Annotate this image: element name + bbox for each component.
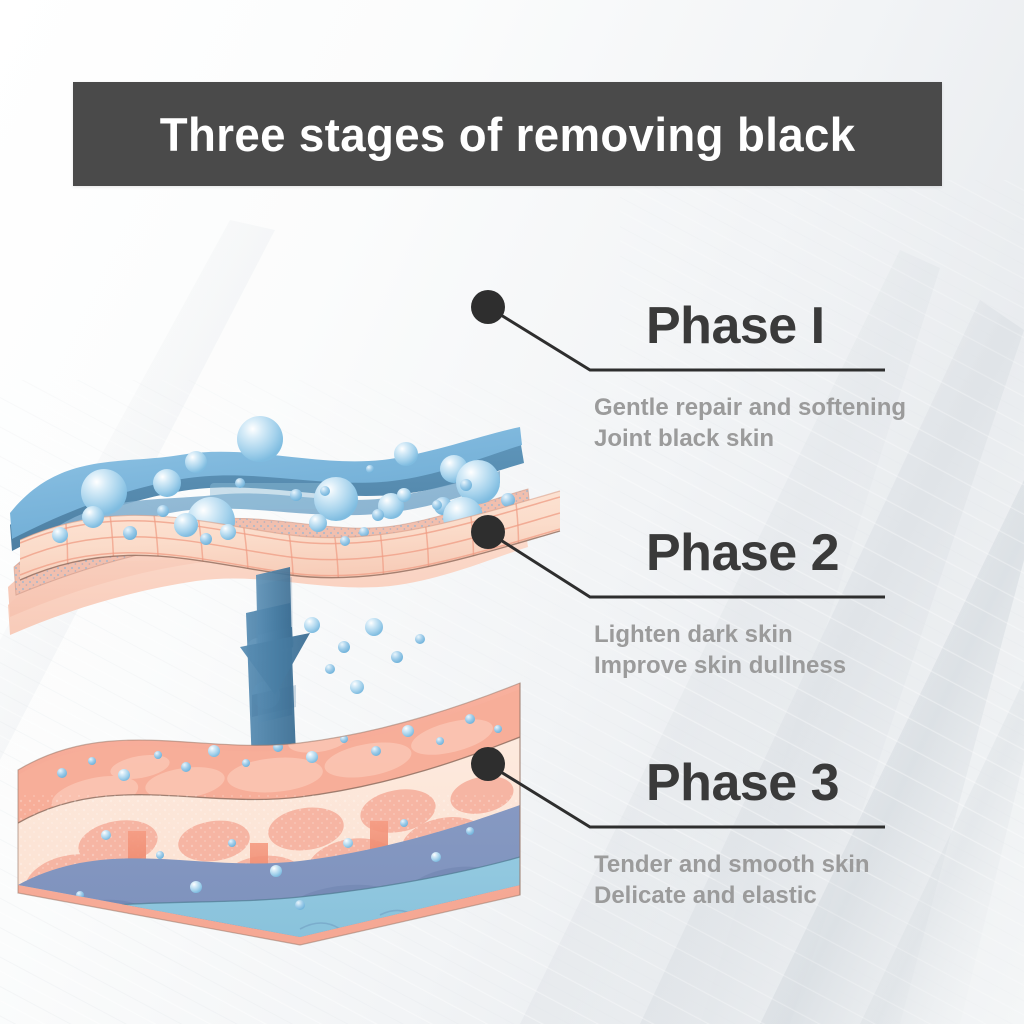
page-title: Three stages of removing black [160, 107, 856, 162]
falling-droplets [304, 617, 425, 694]
phase-1-title: Phase I [646, 300, 825, 352]
phase-2-description: Lighten dark skin Improve skin dullness [594, 619, 846, 681]
infographic-canvas: Three stages of removing black [0, 0, 1024, 1024]
phase-2-title: Phase 2 [646, 527, 839, 579]
phase-2-block: Phase 2 [646, 527, 839, 579]
phase-2-line-1: Lighten dark skin [594, 619, 846, 650]
phase-2-line-2: Improve skin dullness [594, 650, 846, 681]
phase-1-line-1: Gentle repair and softening [594, 392, 906, 423]
title-bar: Three stages of removing black [73, 82, 942, 186]
penetration-arrow-lower [240, 559, 310, 728]
phase-3-line-2: Delicate and elastic [594, 880, 870, 911]
phase-3-line-1: Tender and smooth skin [594, 849, 870, 880]
phase-1-description: Gentle repair and softening Joint black … [594, 392, 906, 454]
phase-1-line-2: Joint black skin [594, 423, 906, 454]
phase-3-block: Phase 3 [646, 757, 839, 809]
phase-1-block: Phase I [646, 300, 825, 352]
phase-3-title: Phase 3 [646, 757, 839, 809]
skin-layers-illustration [0, 195, 620, 955]
phase-3-description: Tender and smooth skin Delicate and elas… [594, 849, 870, 911]
